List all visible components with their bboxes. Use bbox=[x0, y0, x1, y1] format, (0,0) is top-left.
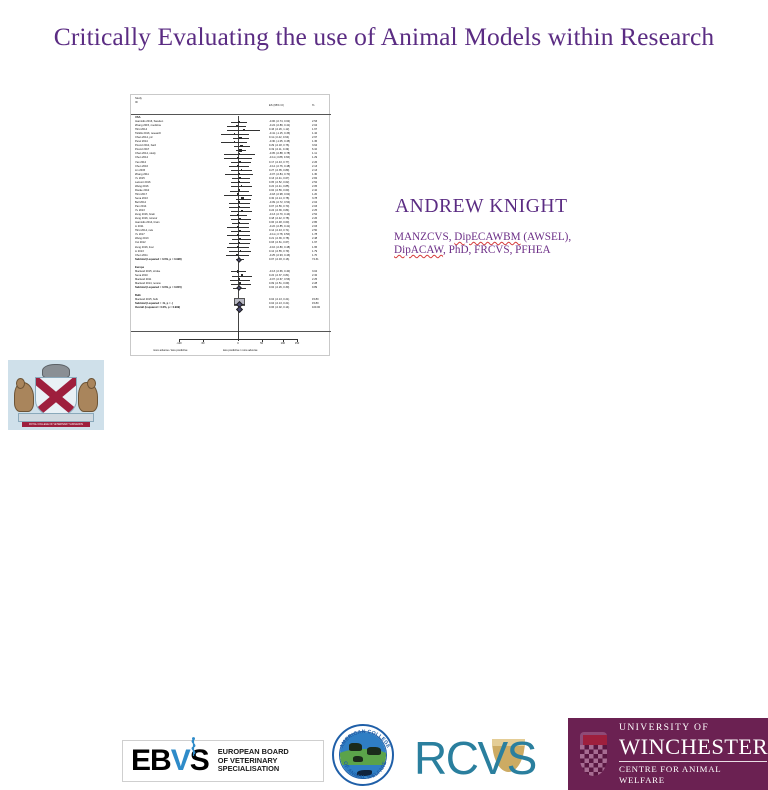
point-estimate-marker bbox=[238, 181, 240, 183]
confidence-interval-whisker bbox=[232, 223, 249, 224]
winchester-line-2: WINCHESTER bbox=[619, 734, 768, 759]
point-estimate-marker bbox=[238, 121, 240, 123]
point-estimate-marker bbox=[239, 230, 241, 232]
footer-rule bbox=[131, 331, 331, 332]
point-estimate-marker bbox=[239, 282, 241, 284]
spellcheck-word-dipacaw: DipACAW bbox=[394, 244, 443, 256]
point-estimate-marker bbox=[239, 177, 241, 179]
axis-tick-label: -100 bbox=[176, 342, 181, 345]
credentials-line-2: DipACAW, PhD, FRCVS, PFHEA bbox=[394, 244, 551, 256]
confidence-interval-whisker bbox=[232, 239, 251, 240]
royal-college-crest-logo: ROYAL COLLEGE OF VETERINARY SURGEONS bbox=[8, 360, 104, 430]
overall-diamond-marker bbox=[236, 305, 243, 312]
point-estimate-marker bbox=[239, 218, 241, 220]
confidence-interval-whisker bbox=[224, 154, 255, 155]
page-title: Critically Evaluating the use of Animal … bbox=[0, 22, 768, 52]
point-estimate-marker bbox=[238, 173, 239, 174]
point-estimate-marker bbox=[237, 246, 239, 248]
plot-overall-row: Overall (I-squared = 0.0%, p = 0.999)0.0… bbox=[131, 306, 331, 310]
point-estimate-marker bbox=[241, 197, 244, 200]
axis-tick-label: -50 bbox=[201, 342, 205, 345]
point-estimate-marker bbox=[238, 278, 240, 280]
american-college-animal-welfare-logo: AMERICAN COLLEGE OF ANIMAL WELFARE bbox=[332, 724, 394, 786]
forest-plot-rows: USAIoannidis 2016, Sweden-0.06 (-0.74, 0… bbox=[131, 116, 331, 330]
column-header-weight: % bbox=[312, 104, 314, 107]
point-estimate-marker bbox=[239, 137, 241, 139]
point-estimate-marker bbox=[238, 201, 240, 203]
point-estimate-marker bbox=[236, 125, 238, 127]
winchester-shield-icon bbox=[580, 732, 607, 776]
university-of-winchester-logo: UNIVERSITY OF WINCHESTER CENTRE FOR ANIM… bbox=[568, 718, 768, 790]
axis-tick-label: 50 bbox=[260, 342, 263, 345]
overall-estimate: 0.06 (-0.02, 0.14) bbox=[269, 306, 289, 310]
rcvs-wordmark: RCVS bbox=[414, 734, 536, 782]
point-estimate-marker bbox=[238, 242, 240, 244]
point-estimate-marker bbox=[237, 157, 238, 158]
point-estimate-marker bbox=[237, 214, 239, 216]
x-axis: -100-50050100150 more adverse / less pre… bbox=[131, 335, 331, 357]
crest-supporter-left-icon bbox=[14, 382, 34, 412]
point-estimate-marker bbox=[239, 238, 241, 240]
overall-weight: 100.00 bbox=[312, 306, 320, 310]
presenter-credentials: MANZCVS, DipECAWBM (AWSEL), DipACAW, PhD… bbox=[394, 231, 571, 257]
point-estimate-marker bbox=[240, 250, 242, 252]
axis-tick-label: 0 bbox=[237, 342, 238, 345]
point-estimate-marker bbox=[240, 145, 243, 148]
axis-tick-label: 100 bbox=[281, 342, 285, 345]
presenter-name: ANDREW KNIGHT bbox=[395, 196, 568, 218]
winchester-shield-chief bbox=[583, 735, 607, 745]
ebvs-fullname: EUROPEAN BOARD OF VETERINARY SPECIALISAT… bbox=[218, 748, 289, 774]
point-estimate-marker bbox=[241, 169, 243, 171]
winchester-divider bbox=[619, 761, 767, 762]
axis-tick-label: 150 bbox=[295, 342, 299, 345]
point-estimate-marker bbox=[239, 153, 240, 154]
overall-label: Overall (I-squared = 0.0%, p = 0.999) bbox=[135, 306, 180, 310]
axis-caption-left: more adverse / less predictive bbox=[153, 349, 187, 352]
ebvs-logo: EBVS EUROPEAN BOARD OF VETERINARY SPECIA… bbox=[122, 740, 324, 782]
svg-text:OF ANIMAL WELFARE: OF ANIMAL WELFARE bbox=[342, 760, 389, 781]
credentials-line-1: MANZCVS, DipECAWBM (AWSEL), bbox=[394, 231, 571, 243]
acaw-ring-text: AMERICAN COLLEGE OF ANIMAL WELFARE bbox=[334, 726, 394, 786]
point-estimate-marker bbox=[237, 226, 239, 228]
point-estimate-marker bbox=[239, 161, 241, 163]
point-estimate-marker bbox=[234, 133, 236, 135]
point-estimate-marker bbox=[236, 254, 238, 256]
crest-plinth bbox=[18, 413, 94, 422]
crest-shield-icon bbox=[35, 377, 77, 417]
forest-plot-header: Study ID ES (95% CI) % bbox=[131, 95, 329, 115]
logo-strip: ROYAL COLLEGE OF VETERINARY SURGEONS EBV… bbox=[0, 358, 768, 432]
forest-plot-figure: Study ID ES (95% CI) % USAIoannidis 2016… bbox=[130, 94, 330, 356]
point-estimate-marker bbox=[237, 234, 239, 236]
confidence-interval-whisker bbox=[231, 182, 250, 183]
point-estimate-marker bbox=[238, 206, 240, 208]
ebvs-wordmark: EBVS bbox=[131, 746, 209, 776]
point-estimate-marker bbox=[237, 270, 239, 272]
point-estimate-marker bbox=[238, 222, 240, 224]
rcvs-logo: RCVS bbox=[414, 734, 562, 782]
crest-motto-banner: ROYAL COLLEGE OF VETERINARY SURGEONS bbox=[22, 422, 90, 427]
confidence-interval-whisker bbox=[224, 195, 252, 196]
point-estimate-marker bbox=[237, 165, 239, 167]
caduceus-icon bbox=[187, 737, 200, 757]
point-estimate-marker bbox=[238, 189, 240, 191]
spellcheck-word-dipecawbm: DipECAWBM bbox=[454, 231, 520, 243]
crest-supporter-right-icon bbox=[78, 382, 98, 412]
column-header-effect: ES (95% CI) bbox=[269, 104, 284, 107]
winchester-line-1: UNIVERSITY OF bbox=[619, 722, 768, 734]
winchester-line-3: CENTRE FOR ANIMAL WELFARE bbox=[619, 764, 768, 786]
point-estimate-marker bbox=[241, 210, 243, 212]
winchester-text-block: UNIVERSITY OF WINCHESTER CENTRE FOR ANIM… bbox=[619, 722, 768, 786]
point-estimate-marker bbox=[241, 185, 243, 187]
winchester-shield-checks bbox=[580, 745, 607, 776]
header-rule bbox=[131, 114, 331, 115]
point-estimate-marker bbox=[234, 141, 236, 143]
column-header-study: Study ID bbox=[135, 97, 142, 104]
point-estimate-marker bbox=[241, 274, 243, 276]
point-estimate-marker bbox=[237, 193, 238, 194]
svg-text:AMERICAN COLLEGE: AMERICAN COLLEGE bbox=[339, 729, 391, 750]
axis-tick bbox=[238, 331, 239, 341]
axis-caption-right: less predictive / more adverse bbox=[223, 349, 257, 352]
point-estimate-marker bbox=[243, 129, 245, 131]
